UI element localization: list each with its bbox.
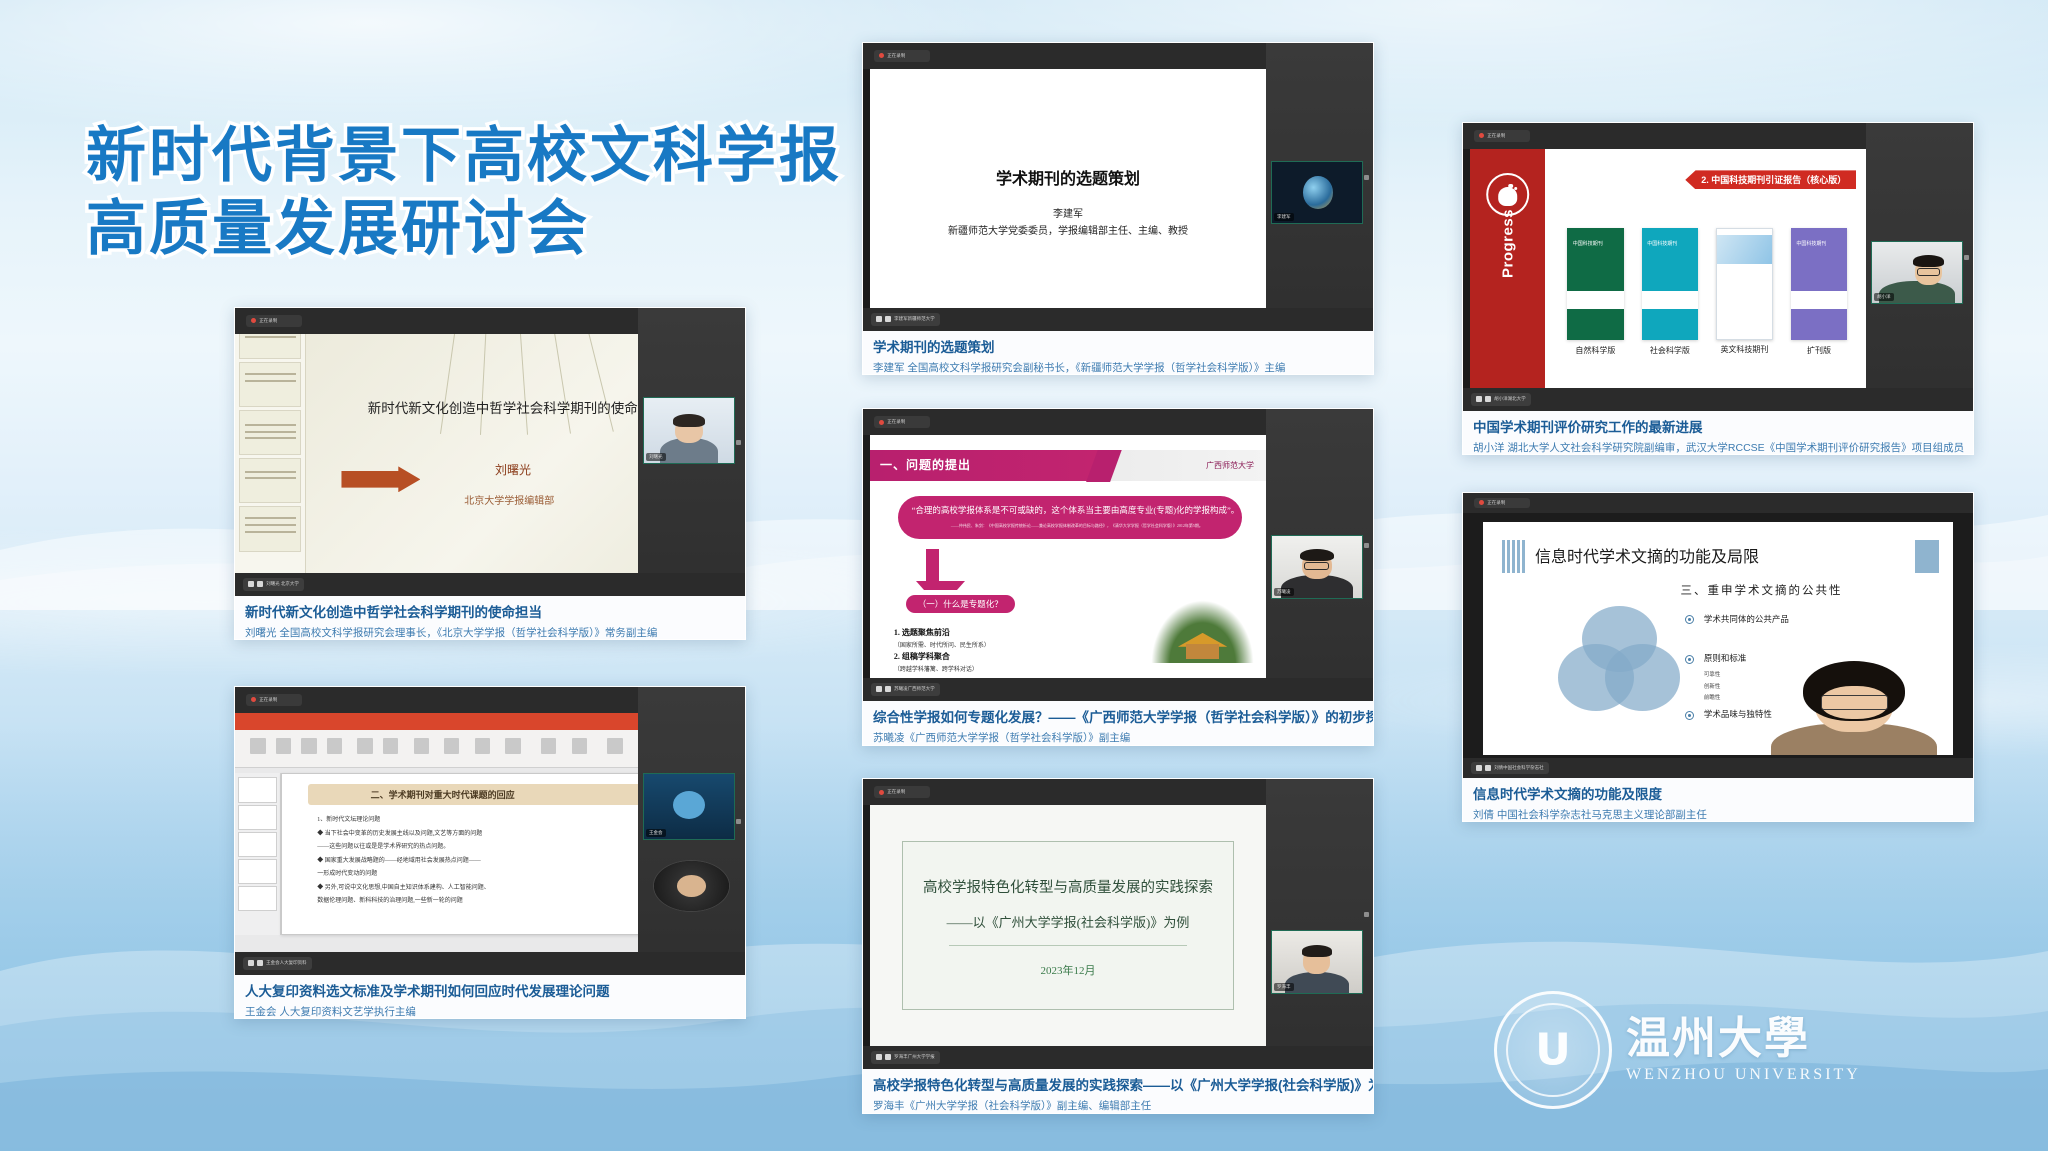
meeting-sharer-label: 刘曙光 北京大学 — [243, 578, 304, 591]
participant-rail[interactable] — [1266, 779, 1373, 1069]
slide-title: 信息时代学术文摘的功能及局限 — [1535, 543, 1759, 567]
point-note: （跨越学科藩篱、跨学科对话） — [894, 667, 978, 673]
meeting-sharer-label: 罗海丰广州大学学报 — [871, 1051, 940, 1064]
participant-name: 胡小洋 — [1874, 293, 1894, 301]
slide-subnote: 创新性 — [1704, 683, 1721, 691]
slide-heading: 二、学术期刊对重大时代课题的回应 — [371, 788, 515, 801]
slide-thumbnail-rail — [235, 308, 306, 596]
participant-video-tile[interactable]: 王金会 — [643, 773, 735, 839]
record-dot-icon — [879, 53, 884, 58]
recording-indicator: 正在录制 — [246, 315, 302, 327]
point-note: （国家所需、时代所问、民生所系） — [894, 643, 990, 649]
slide-thumb — [239, 506, 301, 551]
decorative-square — [1915, 540, 1938, 573]
participant-video-tile[interactable]: 苏曦凌 — [1271, 535, 1363, 599]
slide-subnote: 可靠性 — [1704, 671, 1721, 679]
book-row: 中国科技期刊 自然科学版 中国科技期刊 社会科学版 英文科技期刊 — [1558, 228, 1856, 340]
chevron-right-icon[interactable] — [1964, 255, 1969, 260]
section-tag: 2. 中国科技期刊引证报告（核心版） — [1685, 170, 1856, 189]
slide-thumb — [239, 362, 301, 407]
decorative-bars — [1502, 540, 1525, 573]
caption-subtitle: 刘曙光 全国高校文科学报研究会理事长，《北京大学学报（哲学社会科学版）》常务副主… — [245, 626, 735, 640]
caption-subtitle: 刘倩 中国社会科学杂志社马克思主义理论部副主任 — [1473, 808, 1963, 822]
record-dot-icon — [1479, 133, 1484, 138]
book-caption: 自然科学版 — [1556, 345, 1635, 356]
caption-title: 高校学报特色化转型与高质量发展的实践探索——以《广州大学学报(社会科学版)》为例 — [873, 1077, 1363, 1095]
question-pill: （一）什么是专题化？ — [906, 595, 1015, 613]
book-title: 中国科技期刊 — [1796, 241, 1841, 248]
book-cover: 中国科技期刊 扩刊版 — [1791, 228, 1848, 340]
slide-speaker: 李建军 — [870, 205, 1266, 220]
meeting-sharer-label: 王金会人大复印资料 — [243, 957, 312, 970]
card-caption: 信息时代学术文摘的功能及限度 刘倩 中国社会科学杂志社马克思主义理论部副主任 — [1463, 778, 1973, 822]
slide-speaker: 刘曙光 — [495, 461, 531, 478]
recording-indicator: 正在录制 — [1474, 130, 1530, 142]
participant-video-tile-2[interactable] — [653, 860, 730, 912]
meeting-screenshot: 二、学术期刊对重大时代课题的回应 1、新时代文坛理论问题 ◆ 当下社会中变革的历… — [235, 687, 745, 975]
microphone-icon — [876, 316, 882, 322]
meeting-screenshot: 新时代新文化创造中哲学社会科学期刊的使命担当 刘曙光 北京大学学报编辑部 正在录… — [235, 308, 745, 596]
quote-box: “合理的高校学报体系是不可或缺的，这个体系当主要由高度专业(专题)化的学报构成”… — [898, 496, 1242, 540]
caption-subtitle: 王金会 人大复印资料文艺学执行主编 — [245, 1005, 735, 1019]
caption-title: 人大复印资料选文标准及学术期刊如何回应时代发展理论问题 — [245, 983, 735, 1001]
meeting-screenshot: Progress 2. 中国科技期刊引证报告（核心版） 中国科技期刊 自然科学版… — [1463, 123, 1973, 411]
microphone-icon — [876, 686, 882, 692]
down-arrow-icon — [926, 549, 939, 581]
university-name: 温州大學 WENZHOU UNIVERSITY — [1626, 1016, 1861, 1084]
slide-bullet: 学术共同体的公共产品 — [1704, 613, 1789, 625]
recording-indicator: 正在录制 — [874, 50, 930, 62]
pavilion-illustration — [1151, 600, 1254, 663]
slide-subnote: 前瞻性 — [1704, 694, 1721, 702]
participant-video-tile[interactable]: 罗海丰 — [1271, 930, 1363, 994]
bullet-icon — [1685, 711, 1694, 720]
poster-title-line-1: 新时代背景下高校文科学报 — [86, 120, 842, 193]
meeting-top-bar: 正在录制 — [1463, 493, 1973, 513]
meeting-bottom-bar: 刘曙光 北京大学 — [235, 573, 745, 596]
chevron-right-icon[interactable] — [1364, 543, 1369, 548]
meeting-bottom-bar: 胡小洋湖北大学 — [1463, 388, 1973, 411]
caption-subtitle: 胡小洋 湖北大学人文社会科学研究院副编审，武汉大学RCCSE《中国学术期刊评价研… — [1473, 441, 1963, 455]
section-heading: 一、问题的提出 — [880, 456, 971, 473]
divider — [949, 945, 1187, 946]
slide-points: 1. 选题聚焦前沿 （国家所需、时代所问、民生所系） 2. 组稿学科聚合 （跨越… — [894, 627, 990, 675]
progress-word: Progress — [1499, 209, 1516, 278]
venn-diagram-icon — [1558, 606, 1680, 714]
recording-indicator: 正在录制 — [1474, 498, 1530, 508]
decorative-lines — [438, 320, 622, 435]
microphone-icon — [1476, 765, 1482, 771]
card-caption: 高校学报特色化转型与高质量发展的实践探索——以《广州大学学报(社会科学版)》为例… — [863, 1069, 1373, 1114]
slide-thumb[interactable] — [238, 859, 277, 884]
bullet-icon — [1685, 615, 1694, 624]
caption-title: 学术期刊的选题策划 — [873, 339, 1363, 357]
card-caption: 学术期刊的选题策划 李建军 全国高校文科学报研究会副秘书长，《新疆师范大学学报（… — [863, 331, 1373, 375]
point-label: 2. 组稿学科聚合 — [894, 652, 950, 661]
card-huxiaoyang[interactable]: Progress 2. 中国科技期刊引证报告（核心版） 中国科技期刊 自然科学版… — [1462, 122, 1974, 455]
microphone-icon — [248, 581, 254, 587]
book-cover: 英文科技期刊 — [1716, 228, 1773, 340]
slide-content: Progress 2. 中国科技期刊引证报告（核心版） 中国科技期刊 自然科学版… — [1470, 149, 1866, 388]
camera-icon — [885, 1054, 891, 1060]
slide-canvas: 信息时代学术文摘的功能及局限 三、重申学术文摘的公共性 学术共同体的公共产品 原… — [1483, 522, 1952, 756]
slide-thumb[interactable] — [238, 832, 277, 857]
participant-name: 李建军 — [1274, 213, 1294, 221]
avatar — [654, 861, 729, 911]
caption-subtitle: 苏曦凌《广西师范大学学报（哲学社会科学版）》副主编 — [873, 731, 1363, 745]
slide-thumb[interactable] — [238, 777, 277, 802]
caption-title: 新时代新文化创造中哲学社会科学期刊的使命担当 — [245, 604, 735, 622]
slide-section: 三、重申学术文摘的公共性 — [1680, 582, 1842, 598]
poster-title: 新时代背景下高校文科学报 高质量发展研讨会 — [86, 120, 842, 266]
participant-name: 王金会 — [646, 829, 666, 837]
slide-canvas: 一、问题的提出 广西师范大学 “合理的高校学报体系是不可或缺的，这个体系当主要由… — [870, 435, 1266, 677]
slide-bullet: 原则和标准 — [1704, 652, 1747, 664]
microphone-icon — [1476, 396, 1482, 402]
wenzhou-university-logo: U 温州大學 WENZHOU UNIVERSITY — [1494, 975, 2014, 1125]
slide-body: 2. 中国科技期刊引证报告（核心版） 中国科技期刊 自然科学版 中国科技期刊 社… — [1545, 149, 1866, 388]
camera-icon — [1485, 396, 1491, 402]
slide-canvas: 学术期刊的选题策划 李建军 新疆师范大学党委委员，学报编辑部主任、主编、教授 — [870, 69, 1266, 308]
participant-video-tile[interactable]: 胡小洋 — [1871, 241, 1963, 304]
slide-thumb[interactable] — [238, 805, 277, 830]
caption-title: 信息时代学术文摘的功能及限度 — [1473, 786, 1963, 804]
slide-thumbnail-rail[interactable] — [235, 773, 281, 934]
slide-affiliation: 新疆师范大学党委委员，学报编辑部主任、主编、教授 — [870, 222, 1266, 237]
caption-subtitle: 李建军 全国高校文科学报研究会副秘书长，《新疆师范大学学报（哲学社会科学版）》主… — [873, 361, 1363, 375]
recording-indicator: 正在录制 — [874, 416, 930, 429]
quote-source: ——仲伟民、朱剑：《中国高校学报传统析论——兼论高校学报体制改革的目标与路径》，… — [925, 523, 1228, 529]
slide-content: 高校学报特色化转型与高质量发展的实践探索 ——以《广州大学学报(社会科学版)》为… — [870, 805, 1266, 1046]
card-suxiling[interactable]: 一、问题的提出 广西师范大学 “合理的高校学报体系是不可或缺的，这个体系当主要由… — [862, 408, 1374, 746]
record-dot-icon — [879, 420, 884, 425]
seal-letter: U — [1535, 1025, 1571, 1076]
slide-frame: 高校学报特色化转型与高质量发展的实践探索 ——以《广州大学学报(社会科学版)》为… — [902, 841, 1234, 1010]
slide-canvas: Progress 2. 中国科技期刊引证报告（核心版） 中国科技期刊 自然科学版… — [1470, 149, 1866, 388]
chevron-right-icon[interactable] — [736, 819, 741, 824]
card-liushuguang[interactable]: 新时代新文化创造中哲学社会科学期刊的使命担当 刘曙光 北京大学学报编辑部 正在录… — [234, 307, 746, 640]
chevron-right-icon[interactable] — [736, 440, 741, 445]
meeting-bottom-bar: 王金会人大复印资料 — [235, 952, 745, 975]
card-caption: 人大复印资料选文标准及学术期刊如何回应时代发展理论问题 王金会 人大复印资料文艺… — [235, 975, 745, 1019]
bullet-icon — [1685, 655, 1694, 664]
card-liuqian[interactable]: 信息时代学术文摘的功能及局限 三、重申学术文摘的公共性 学术共同体的公共产品 原… — [1462, 492, 1974, 822]
participant-name: 刘曙光 — [646, 453, 666, 461]
slide-thumb — [239, 458, 301, 503]
book-cover: 中国科技期刊 社会科学版 — [1642, 228, 1699, 340]
university-logo: 广西师范大学 — [1206, 460, 1254, 471]
record-dot-icon — [251, 697, 256, 702]
card-caption: 中国学术期刊评价研究工作的最新进展 胡小洋 湖北大学人文社会科学研究院副编审，武… — [1463, 411, 1973, 455]
meeting-screenshot: 信息时代学术文摘的功能及局限 三、重申学术文摘的公共性 学术共同体的公共产品 原… — [1463, 493, 1973, 778]
meeting-screenshot: 一、问题的提出 广西师范大学 “合理的高校学报体系是不可或缺的，这个体系当主要由… — [863, 409, 1373, 701]
slide-title: 新时代新文化创造中哲学社会科学期刊的使命担当 — [368, 397, 665, 417]
slide-affiliation: 北京大学学报编辑部 — [464, 492, 554, 507]
card-caption: 新时代新文化创造中哲学社会科学期刊的使命担当 刘曙光 全国高校文科学报研究会理事… — [235, 596, 745, 640]
book-title: 中国科技期刊 — [1647, 241, 1692, 248]
slide-title-line-2: ——以《广州大学学报(社会科学版)》为例 — [903, 912, 1233, 931]
slide-date: 2023年12月 — [903, 962, 1233, 978]
meeting-sharer-label: 李建军新疆师范大学 — [871, 313, 940, 326]
caption-subtitle: 罗海丰《广州大学学报（社会科学版）》副主编、编辑部主任 — [873, 1099, 1363, 1113]
university-name-en: WENZHOU UNIVERSITY — [1626, 1066, 1861, 1084]
camera-icon — [257, 960, 263, 966]
microphone-icon — [876, 1054, 882, 1060]
arrow-shape — [341, 466, 420, 492]
meeting-sharer-label: 胡小洋湖北大学 — [1471, 393, 1531, 406]
participant-video-tile[interactable]: 李建军 — [1271, 161, 1363, 224]
caption-title: 中国学术期刊评价研究工作的最新进展 — [1473, 419, 1963, 437]
quote-text: “合理的高校学报体系是不可或缺的，这个体系当主要由高度专业(专题)化的学报构成”… — [912, 504, 1229, 516]
meeting-screenshot: 学术期刊的选题策划 李建军 新疆师范大学党委委员，学报编辑部主任、主编、教授 正… — [863, 43, 1373, 331]
meeting-sharer-label: 苏曦凌广西师范大学 — [871, 683, 940, 696]
camera-icon — [257, 581, 263, 587]
card-luohaifeng[interactable]: 高校学报特色化转型与高质量发展的实践探索 ——以《广州大学学报(社会科学版)》为… — [862, 778, 1374, 1114]
meeting-bottom-bar: 罗海丰广州大学学报 — [863, 1046, 1373, 1069]
card-caption: 综合性学报如何专题化发展？——《广西师范大学学报（哲学社会科学版）》的初步探索 … — [863, 701, 1373, 746]
book-cover: 中国科技期刊 自然科学版 — [1567, 228, 1624, 340]
recording-indicator: 正在录制 — [246, 694, 302, 706]
camera-icon — [885, 316, 891, 322]
caption-title: 综合性学报如何专题化发展？——《广西师范大学学报（哲学社会科学版）》的初步探索 — [873, 709, 1363, 727]
participant-name: 罗海丰 — [1274, 983, 1294, 991]
recording-indicator: 正在录制 — [874, 786, 930, 799]
progress-rail: Progress — [1470, 149, 1545, 388]
slide-thumb[interactable] — [238, 886, 277, 911]
book-caption: 扩刊版 — [1779, 345, 1858, 356]
university-seal-icon: U — [1494, 991, 1612, 1109]
meeting-bottom-bar: 刘倩中国社会科学杂志社 — [1463, 758, 1973, 778]
book-title: 中国科技期刊 — [1573, 241, 1618, 248]
card-lijianjun[interactable]: 学术期刊的选题策划 李建军 新疆师范大学党委委员，学报编辑部主任、主编、教授 正… — [862, 42, 1374, 375]
chevron-right-icon[interactable] — [1364, 175, 1369, 180]
record-dot-icon — [251, 318, 256, 323]
participant-video-overlay[interactable] — [1756, 648, 1953, 756]
meeting-bottom-bar: 苏曦凌广西师范大学 — [863, 678, 1373, 701]
avatar — [1756, 648, 1953, 756]
participant-video-tile[interactable]: 刘曙光 — [643, 397, 735, 463]
record-dot-icon — [1479, 500, 1484, 505]
meeting-sharer-label: 刘倩中国社会科学杂志社 — [1471, 762, 1549, 773]
camera-icon — [885, 686, 891, 692]
slide-title-line-1: 高校学报特色化转型与高质量发展的实践探索 — [903, 876, 1233, 897]
poster-title-line-2: 高质量发展研讨会 — [86, 193, 842, 266]
book-caption: 社会科学版 — [1630, 345, 1709, 356]
microphone-icon — [248, 960, 254, 966]
card-wangjinhui[interactable]: 二、学术期刊对重大时代课题的回应 1、新时代文坛理论问题 ◆ 当下社会中变革的历… — [234, 686, 746, 1019]
book-caption: 英文科技期刊 — [1706, 344, 1782, 355]
slide-title: 学术期刊的选题策划 — [870, 165, 1266, 189]
university-name-cn: 温州大學 — [1626, 1016, 1861, 1062]
slide-thumb — [239, 410, 301, 455]
camera-icon — [1485, 765, 1491, 771]
slide-content: 一、问题的提出 广西师范大学 “合理的高校学报体系是不可或缺的，这个体系当主要由… — [870, 435, 1266, 677]
point-label: 1. 选题聚焦前沿 — [894, 628, 950, 637]
chevron-right-icon[interactable] — [1364, 912, 1369, 917]
record-dot-icon — [879, 790, 884, 795]
meeting-screenshot: 高校学报特色化转型与高质量发展的实践探索 ——以《广州大学学报(社会科学版)》为… — [863, 779, 1373, 1069]
slide-canvas: 高校学报特色化转型与高质量发展的实践探索 ——以《广州大学学报(社会科学版)》为… — [870, 805, 1266, 1046]
participant-name: 苏曦凌 — [1274, 588, 1294, 596]
meeting-bottom-bar: 李建军新疆师范大学 — [863, 308, 1373, 331]
